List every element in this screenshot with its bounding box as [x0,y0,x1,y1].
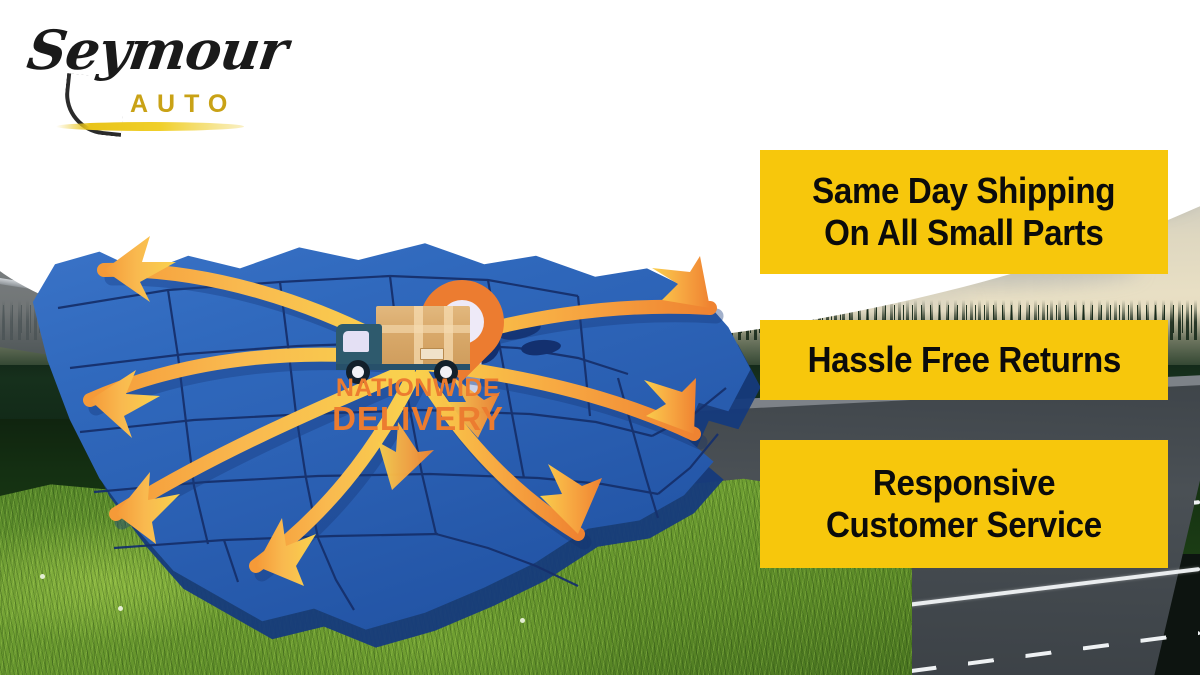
feature-block-same-day-shipping[interactable]: Same Day Shipping On All Small Parts [760,150,1168,274]
box-shipping-label [420,348,444,360]
nationwide-delivery-badge: NATIONWIDE DELIVERY [318,272,518,452]
logo-wordmark: Seymour [24,18,292,82]
box-tape [376,325,470,333]
feature-block-responsive-customer-service[interactable]: Responsive Customer Service [760,440,1168,568]
badge-line-1: NATIONWIDE [318,376,518,401]
brand-logo[interactable]: Seymour AUTO [28,18,258,128]
box-tape [444,306,453,366]
promotional-banner: Seymour AUTO [0,0,1200,675]
feature-line: On All Small Parts [824,212,1103,254]
feature-block-hassle-free-returns[interactable]: Hassle Free Returns [760,320,1168,400]
delivery-truck-icon [336,306,472,378]
logo-swoosh-icon [56,122,244,131]
feature-line: Customer Service [826,504,1102,546]
truck-window [343,331,369,352]
feature-line: Same Day Shipping [813,170,1116,212]
feature-line: Hassle Free Returns [807,339,1120,381]
feature-line: Responsive [873,462,1055,504]
badge-caption: NATIONWIDE DELIVERY [318,376,518,438]
badge-line-2: DELIVERY [318,401,518,438]
logo-subtext: AUTO [130,90,236,119]
